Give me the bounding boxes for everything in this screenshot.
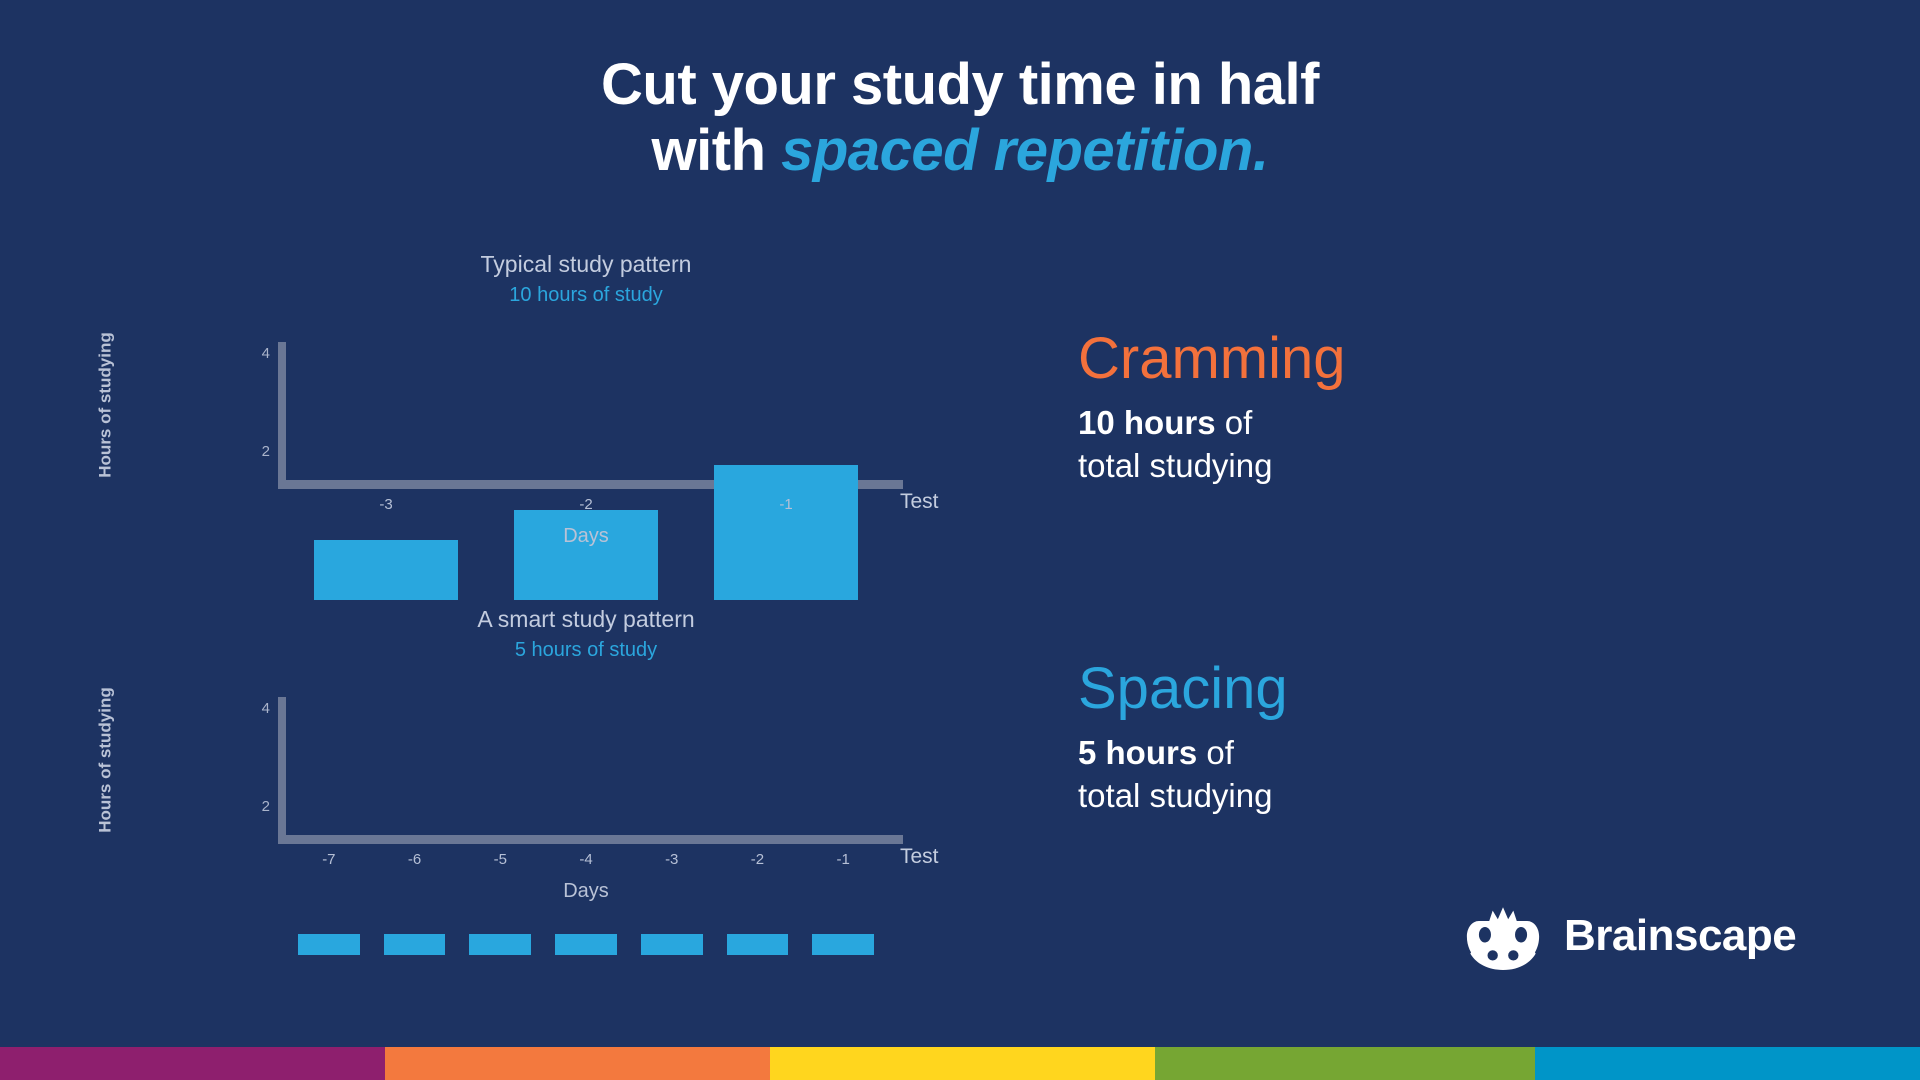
- brainscape-logo: Brainscape: [1460, 890, 1796, 981]
- bottom-bar-segment-blue: [1535, 1047, 1920, 1080]
- chart-cramming-header: Typical study pattern 10 hours of study: [286, 250, 886, 310]
- callout-cramming-line1: 10 hours of: [1078, 402, 1346, 445]
- chart-spacing-xlabels: -7 -6 -5 -4 -3 -2 -1: [286, 851, 886, 868]
- chart-spacing-header: A smart study pattern 5 hours of study: [286, 605, 886, 665]
- bar-spacing-5: [727, 934, 789, 955]
- callout-cramming-line2: total studying: [1078, 445, 1346, 488]
- brainscape-mascot-icon: [1460, 890, 1546, 981]
- chart-cramming-ylabel: Hours of studying: [94, 300, 118, 510]
- chart-cramming-subtitle: 10 hours of study: [286, 280, 886, 310]
- bottom-color-bar: [0, 1047, 1920, 1080]
- bottom-bar-segment-purple: [0, 1047, 385, 1080]
- xtick-label: -4: [543, 851, 629, 868]
- page-title: Cut your study time in half with spaced …: [0, 52, 1920, 183]
- xtick-label: -5: [457, 851, 543, 868]
- callout-spacing-line2: total studying: [1078, 775, 1288, 818]
- chart-cramming-xlabels: -3 -2 -1: [286, 496, 886, 513]
- bar-spacing-3: [555, 934, 617, 955]
- bar-cramming-0: [314, 540, 458, 600]
- title-line-2-plain: with: [652, 118, 782, 183]
- chart-cramming: Typical study pattern 10 hours of study …: [100, 300, 980, 600]
- chart-spacing-y-axis-line: [278, 697, 286, 841]
- chart-spacing-ylabel-text: Hours of studying: [96, 687, 116, 832]
- chart-spacing-test-label: Test: [900, 845, 939, 869]
- bar-spacing-6: [812, 934, 874, 955]
- chart-spacing-xlabel: Days: [286, 880, 886, 903]
- chart-spacing-title: A smart study pattern: [286, 605, 886, 635]
- callout-cramming-body: 10 hours of total studying: [1078, 402, 1346, 488]
- xtick-label: -1: [800, 851, 886, 868]
- bar-cramming-1: [514, 510, 658, 600]
- chart-spacing-ytick-4: 4: [240, 700, 270, 717]
- callout-spacing-line1: 5 hours of: [1078, 732, 1288, 775]
- xtick-label: -3: [629, 851, 715, 868]
- chart-cramming-y-axis-line: [278, 342, 286, 486]
- xtick-label: -2: [486, 496, 686, 513]
- title-line-2: with spaced repetition.: [0, 118, 1920, 184]
- bottom-bar-segment-green: [1155, 1047, 1535, 1080]
- bar-spacing-4: [641, 934, 703, 955]
- xtick-label: -3: [286, 496, 486, 513]
- bottom-bar-segment-orange: [385, 1047, 770, 1080]
- callout-spacing-amount: 5 hours: [1078, 734, 1197, 771]
- brainscape-wordmark: Brainscape: [1564, 911, 1796, 961]
- chart-cramming-ylabel-text: Hours of studying: [96, 332, 116, 477]
- xtick-label: -2: [715, 851, 801, 868]
- chart-spacing-subtitle: 5 hours of study: [286, 635, 886, 665]
- chart-cramming-ytick-4: 4: [240, 345, 270, 362]
- xtick-label: -7: [286, 851, 372, 868]
- chart-cramming-ytick-2: 2: [240, 443, 270, 460]
- chart-spacing-ytick-2: 2: [240, 798, 270, 815]
- chart-spacing: A smart study pattern 5 hours of study H…: [100, 655, 980, 955]
- chart-cramming-test-label: Test: [900, 490, 939, 514]
- chart-cramming-title: Typical study pattern: [286, 250, 886, 280]
- callout-cramming-heading: Cramming: [1078, 330, 1346, 388]
- callout-cramming-amount: 10 hours: [1078, 404, 1216, 441]
- callout-spacing: Spacing 5 hours of total studying: [1078, 660, 1288, 818]
- xtick-label: -1: [686, 496, 886, 513]
- bar-spacing-1: [384, 934, 446, 955]
- callout-spacing-heading: Spacing: [1078, 660, 1288, 718]
- title-line-2-accent: spaced repetition.: [781, 118, 1268, 183]
- title-line-1: Cut your study time in half: [0, 52, 1920, 118]
- callout-cramming-suffix: of: [1216, 404, 1253, 441]
- chart-spacing-ylabel: Hours of studying: [94, 655, 118, 865]
- xtick-label: -6: [372, 851, 458, 868]
- callout-cramming: Cramming 10 hours of total studying: [1078, 330, 1346, 488]
- callout-spacing-suffix: of: [1197, 734, 1234, 771]
- bar-spacing-2: [469, 934, 531, 955]
- chart-cramming-xlabel: Days: [286, 525, 886, 548]
- callout-spacing-body: 5 hours of total studying: [1078, 732, 1288, 818]
- bar-spacing-0: [298, 934, 360, 955]
- bottom-bar-segment-yellow: [770, 1047, 1155, 1080]
